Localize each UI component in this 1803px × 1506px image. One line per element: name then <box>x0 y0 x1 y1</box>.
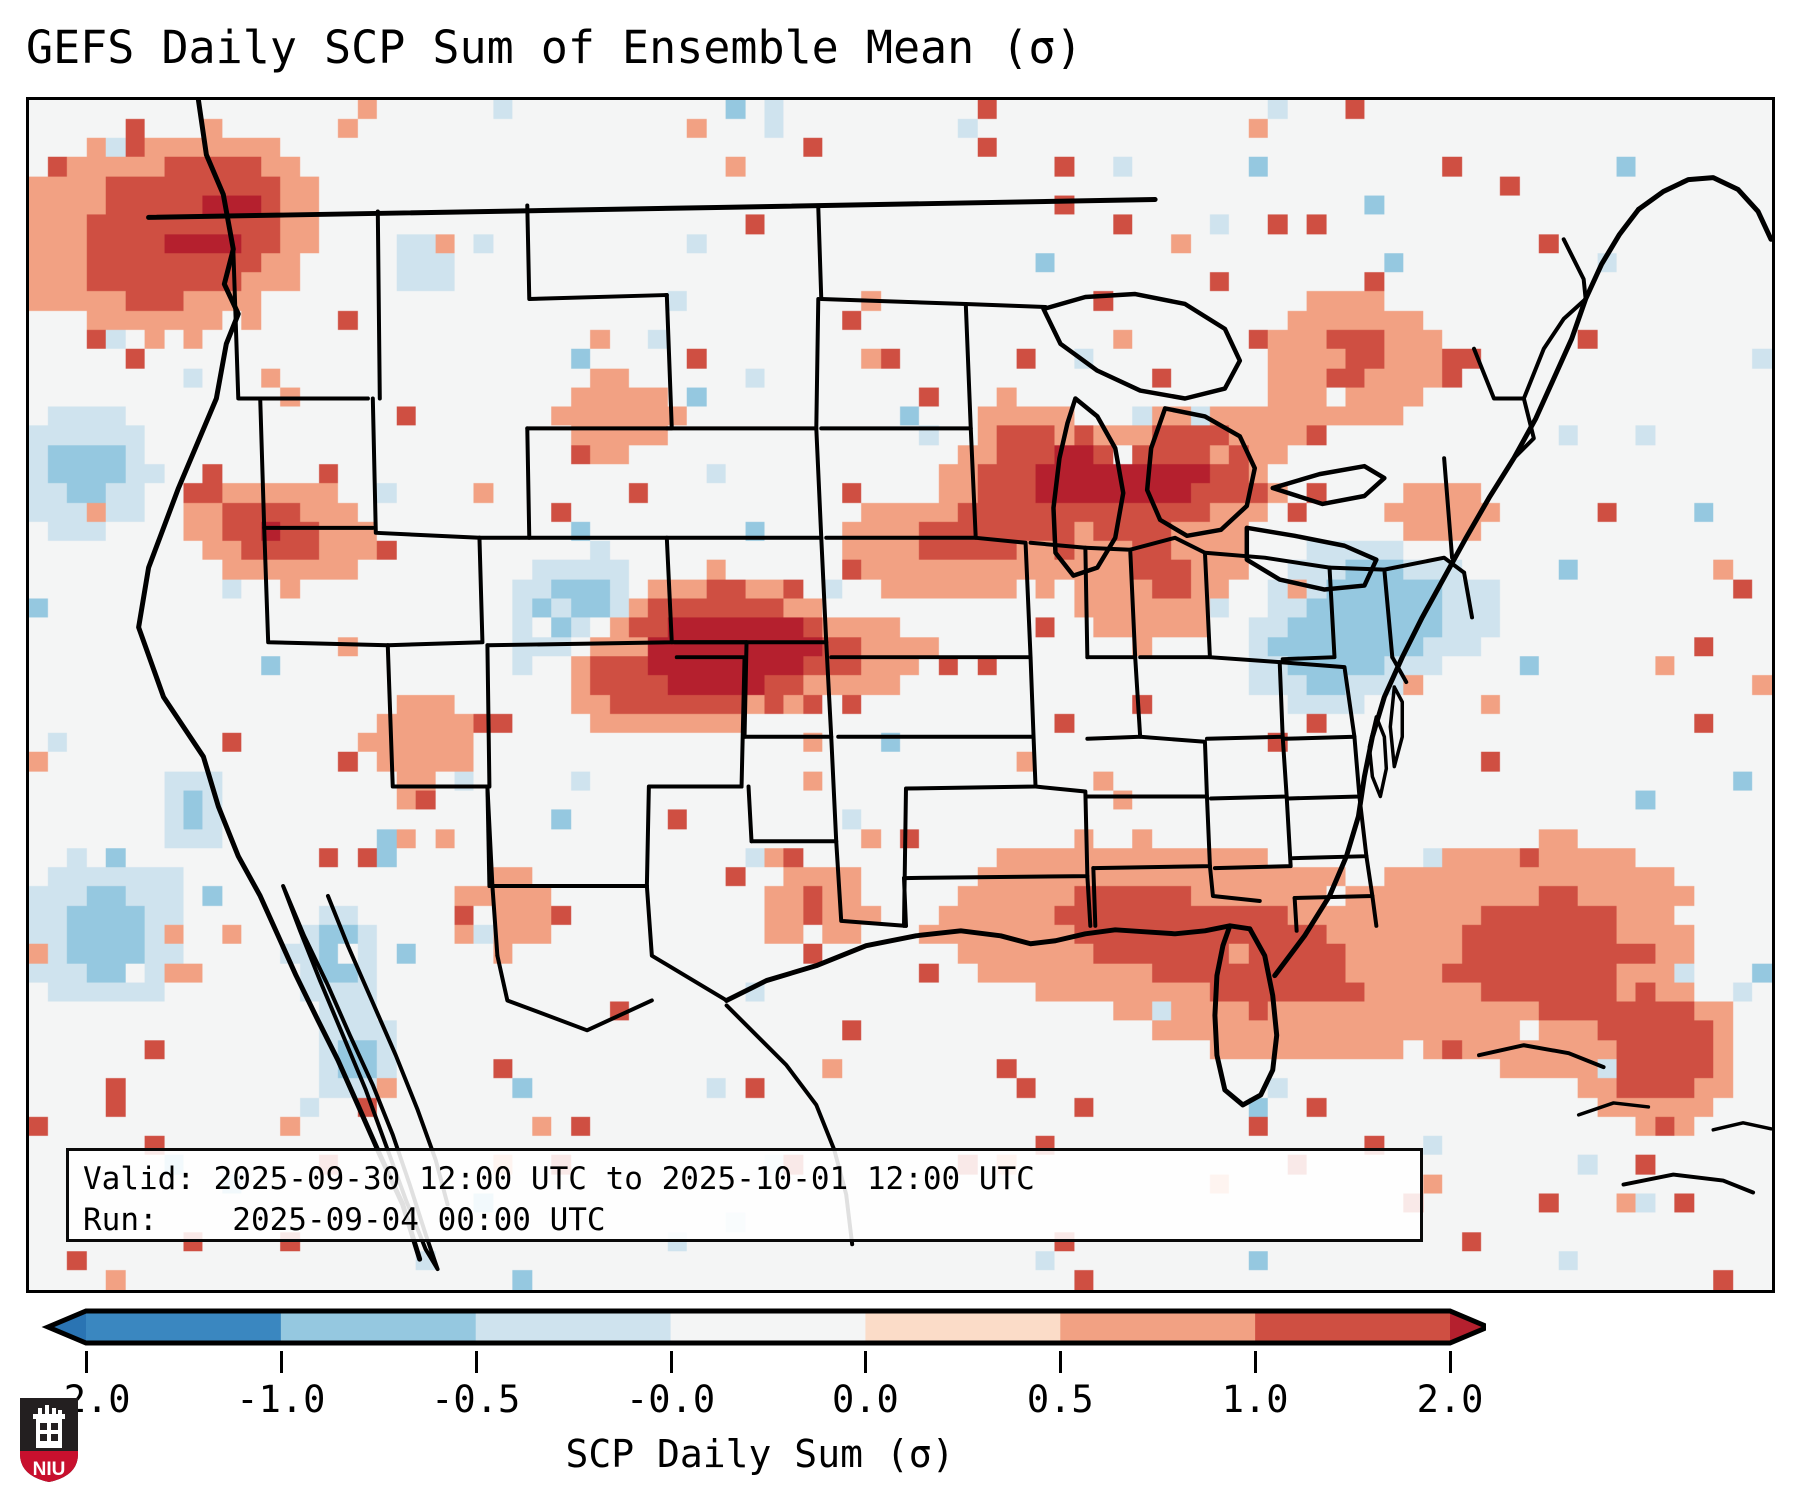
colorbar-tick-label: 1.0 <box>1222 1378 1289 1421</box>
colorbar-tick <box>85 1351 88 1373</box>
colorbar-tick <box>1449 1351 1452 1373</box>
colorbar-tick-label: -0.5 <box>431 1378 520 1421</box>
colorbar-tick <box>1059 1351 1062 1373</box>
colorbar-tick-label: 0.0 <box>832 1378 899 1421</box>
page-title: GEFS Daily SCP Sum of Ensemble Mean (σ) <box>26 18 1776 78</box>
colorbar-tick <box>280 1351 283 1373</box>
niu-logo: NIU <box>18 1396 80 1484</box>
colorbar-gradient <box>26 1303 1486 1353</box>
colorbar-tick-label: 2.0 <box>1417 1378 1484 1421</box>
niu-logo-text: NIU <box>33 1459 66 1480</box>
valid-run-infobox: Valid: 2025-09-30 12:00 UTC to 2025-10-0… <box>66 1148 1423 1242</box>
colorbar-tick <box>864 1351 867 1373</box>
colorbar-tickmarks <box>0 1351 1500 1381</box>
colorbar-tick-label: -0.0 <box>626 1378 715 1421</box>
colorbar-tick-label: 0.5 <box>1027 1378 1094 1421</box>
colorbar-axis-label: SCP Daily Sum (σ) <box>0 1432 1520 1476</box>
colorbar <box>26 1303 1486 1353</box>
colorbar-tick <box>475 1351 478 1373</box>
run-time-text: Run: 2025-09-04 00:00 UTC <box>83 1200 1406 1241</box>
colorbar-tick-labels: -2.0-1.0-0.5-0.00.00.51.02.0 <box>0 1378 1600 1428</box>
valid-time-text: Valid: 2025-09-30 12:00 UTC to 2025-10-0… <box>83 1159 1406 1200</box>
colorbar-tick <box>670 1351 673 1373</box>
colorbar-tick <box>1254 1351 1257 1373</box>
scp-anomaly-heatmap <box>29 100 1772 1290</box>
map-plot-panel: Valid: 2025-09-30 12:00 UTC to 2025-10-0… <box>26 97 1775 1293</box>
colorbar-tick-label: -1.0 <box>236 1378 325 1421</box>
